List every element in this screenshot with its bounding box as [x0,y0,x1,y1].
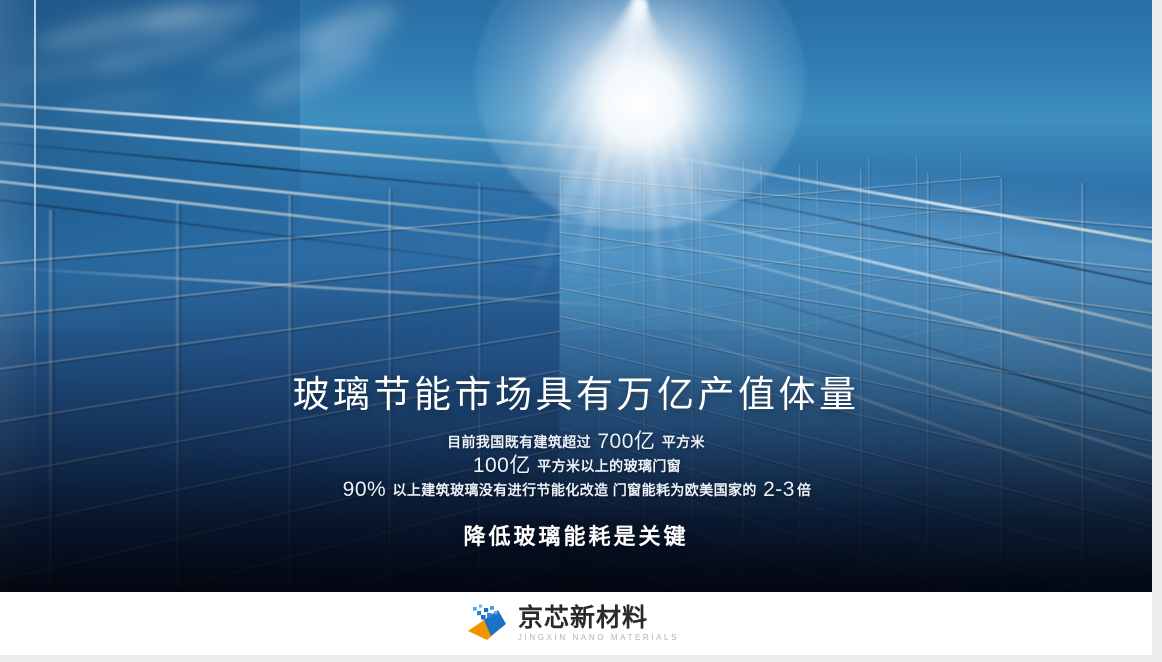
logo-name-cn: 京芯新材料 [518,605,679,630]
logo-name-en: JINGXIN NANO MATERIALS [518,634,679,642]
subtitle-3-suffix: 倍 [797,482,811,498]
highlight-statement: 降低玻璃能耗是关键 [0,522,1152,552]
subtitle-3-text: 以上建筑玻璃没有进行节能化改造 门窗能耗为欧美国家的 [392,482,756,498]
subtitle-line-1: 目前我国既有建筑超过 700亿 平方米 [0,430,1152,454]
presentation-slide: 玻璃节能市场具有万亿产值体量 目前我国既有建筑超过 700亿 平方米 100亿 … [0,0,1162,662]
subtitle-2-suffix: 平方米以上的玻璃门窗 [537,458,681,474]
subtitle-1-number: 700亿 [595,430,657,453]
logo-text-group: 京芯新材料 JINGXIN NANO MATERIALS [518,605,679,642]
page-right-margin [1152,0,1162,662]
page-bottom-margin [0,655,1162,662]
subtitle-2-number: 100亿 [471,454,533,477]
subtitle-1-prefix: 目前我国既有建筑超过 [447,434,591,450]
page-title: 玻璃节能市场具有万亿产值体量 [0,372,1152,418]
company-logo: 京芯新材料 JINGXIN NANO MATERIALS [465,604,679,644]
logo-mark-icon [465,604,509,644]
subtitle-1-suffix: 平方米 [662,434,705,450]
subtitle-line-2: 100亿 平方米以上的玻璃门窗 [0,454,1152,478]
subtitle-line-3: 90% 以上建筑玻璃没有进行节能化改造 门窗能耗为欧美国家的 2-3倍 [0,478,1152,502]
slide-footer: 京芯新材料 JINGXIN NANO MATERIALS [0,592,1152,655]
slide-text-block: 玻璃节能市场具有万亿产值体量 目前我国既有建筑超过 700亿 平方米 100亿 … [0,372,1152,552]
subtitle-3-number: 90% [341,478,389,501]
hero-background-image: 玻璃节能市场具有万亿产值体量 目前我国既有建筑超过 700亿 平方米 100亿 … [0,0,1152,592]
subtitle-3-number-2: 2-3 [761,478,797,501]
